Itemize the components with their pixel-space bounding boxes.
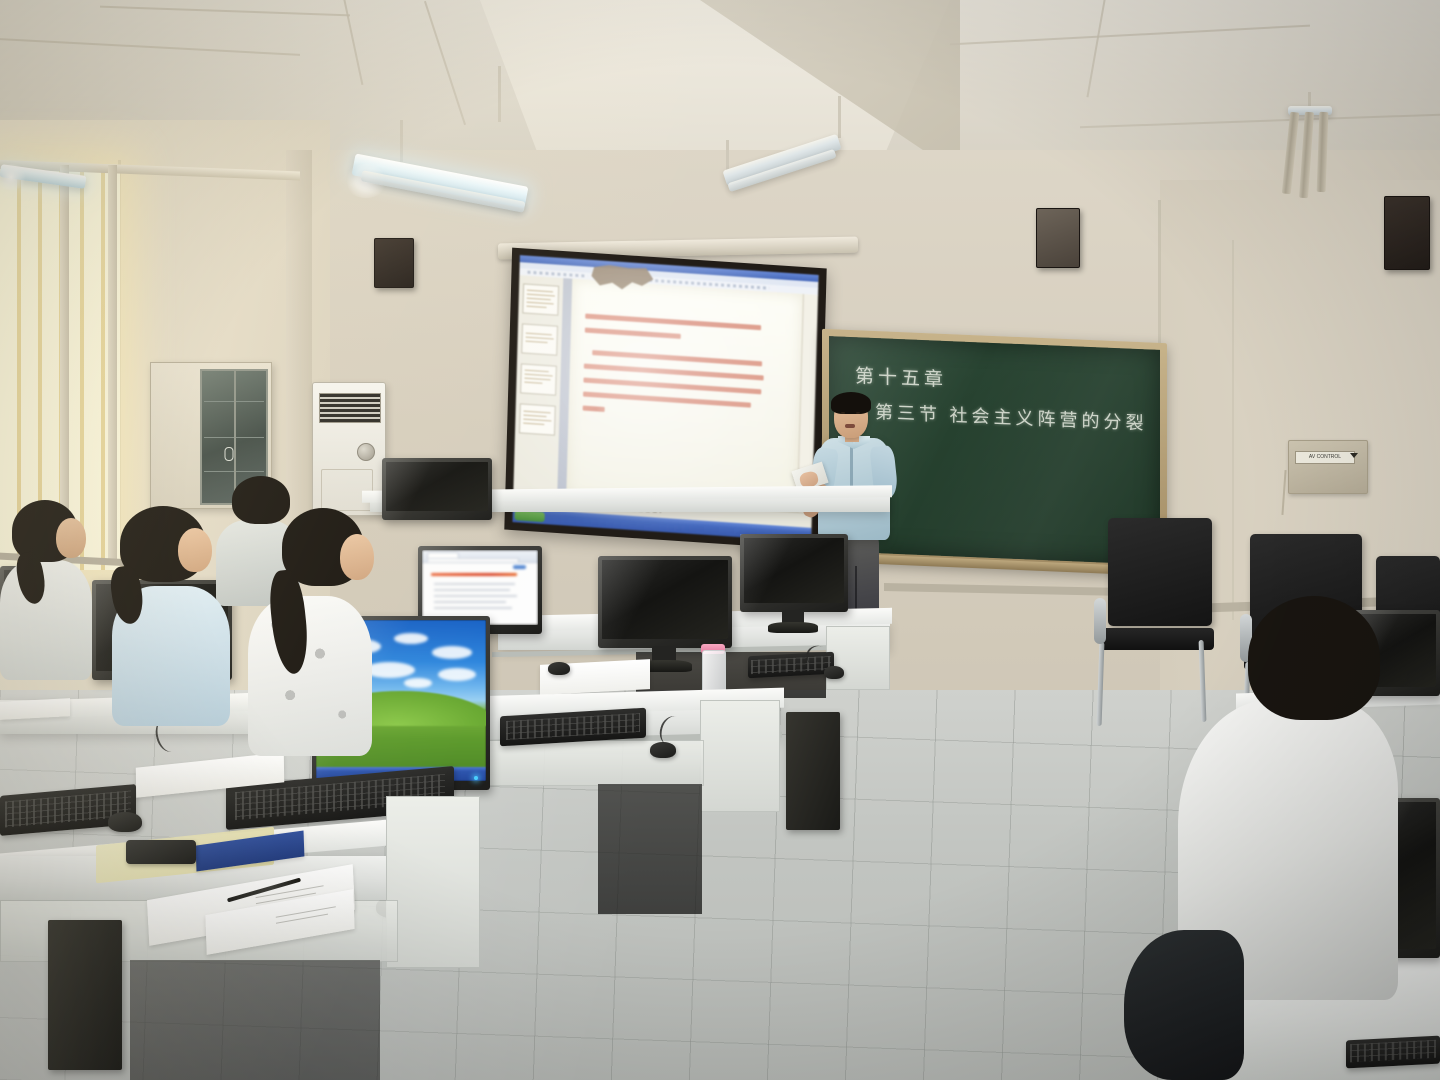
av-panel-label: AV CONTROL (1295, 451, 1355, 464)
desk-side-panel (386, 796, 480, 968)
browser-window (422, 550, 538, 625)
power-led (474, 776, 478, 780)
highlighted-heading (431, 573, 517, 576)
desk-side-panel (826, 626, 890, 690)
panel-indicator-icon (1350, 453, 1358, 458)
mouse-row1-left[interactable] (108, 812, 142, 832)
eye (856, 412, 860, 414)
slide-thumbnail (520, 363, 557, 395)
slide-text-line (585, 328, 681, 339)
student-hair (1248, 596, 1380, 720)
slide-thumbnail (522, 283, 559, 315)
ac-control-dial[interactable] (357, 443, 375, 461)
student-face (56, 518, 86, 558)
mouse-row3[interactable] (824, 666, 844, 679)
mouth (845, 424, 855, 428)
monitor-back-left[interactable] (382, 458, 492, 520)
mouse-row3b[interactable] (548, 662, 570, 675)
ac-vent-grille (319, 393, 381, 423)
student-leg (1124, 930, 1244, 1080)
page-button[interactable] (513, 565, 527, 569)
eye (841, 412, 845, 414)
cabinet-handle[interactable] (225, 447, 234, 461)
under-desk-shadow (598, 784, 702, 914)
address-bar[interactable] (427, 558, 519, 563)
monitor-row3-left[interactable] (598, 556, 732, 648)
student-blouse (248, 596, 372, 756)
paper-scrap (0, 698, 70, 720)
pc-tower-row1[interactable] (48, 920, 122, 1070)
light-stem (498, 66, 501, 122)
slide-text-line (585, 314, 761, 331)
instructor-hair (831, 392, 871, 414)
wall-speaker (1384, 196, 1430, 270)
window-mullion (108, 165, 117, 565)
student-torso (0, 560, 92, 680)
wall-speaker (1036, 208, 1080, 268)
slide-text-line (583, 392, 751, 408)
light-stem (726, 140, 729, 170)
classroom-photo: 第十五章 第三节 社会主义阵营的分裂 AV CONTROL (0, 0, 1440, 1080)
slide-text-line (584, 364, 764, 381)
keyboard-right[interactable] (1346, 1036, 1440, 1069)
slide-text-line (583, 406, 605, 412)
under-desk-shadow (130, 960, 380, 1080)
slide-thumbnail (519, 403, 556, 435)
monitor-base (768, 622, 818, 633)
device-on-pad[interactable] (126, 840, 196, 864)
student-hair (232, 476, 290, 524)
desk-side-panel (700, 700, 780, 812)
av-control-panel[interactable]: AV CONTROL (1288, 440, 1368, 494)
wall-speaker (374, 238, 414, 288)
slide-thumbnail-pane (513, 275, 564, 497)
monitor-row3-right[interactable] (740, 534, 848, 612)
light-stem (838, 96, 841, 138)
pc-tower-row2[interactable] (786, 712, 840, 830)
wall-pillar (286, 150, 312, 570)
wall-seam (1232, 240, 1234, 620)
slide-text-line (583, 378, 761, 395)
slide-stage (566, 279, 804, 513)
light-stem (400, 120, 403, 162)
slide-text-line (592, 350, 762, 366)
student-face (340, 534, 374, 580)
student-face (178, 528, 212, 572)
slide-thumbnail (521, 323, 558, 355)
